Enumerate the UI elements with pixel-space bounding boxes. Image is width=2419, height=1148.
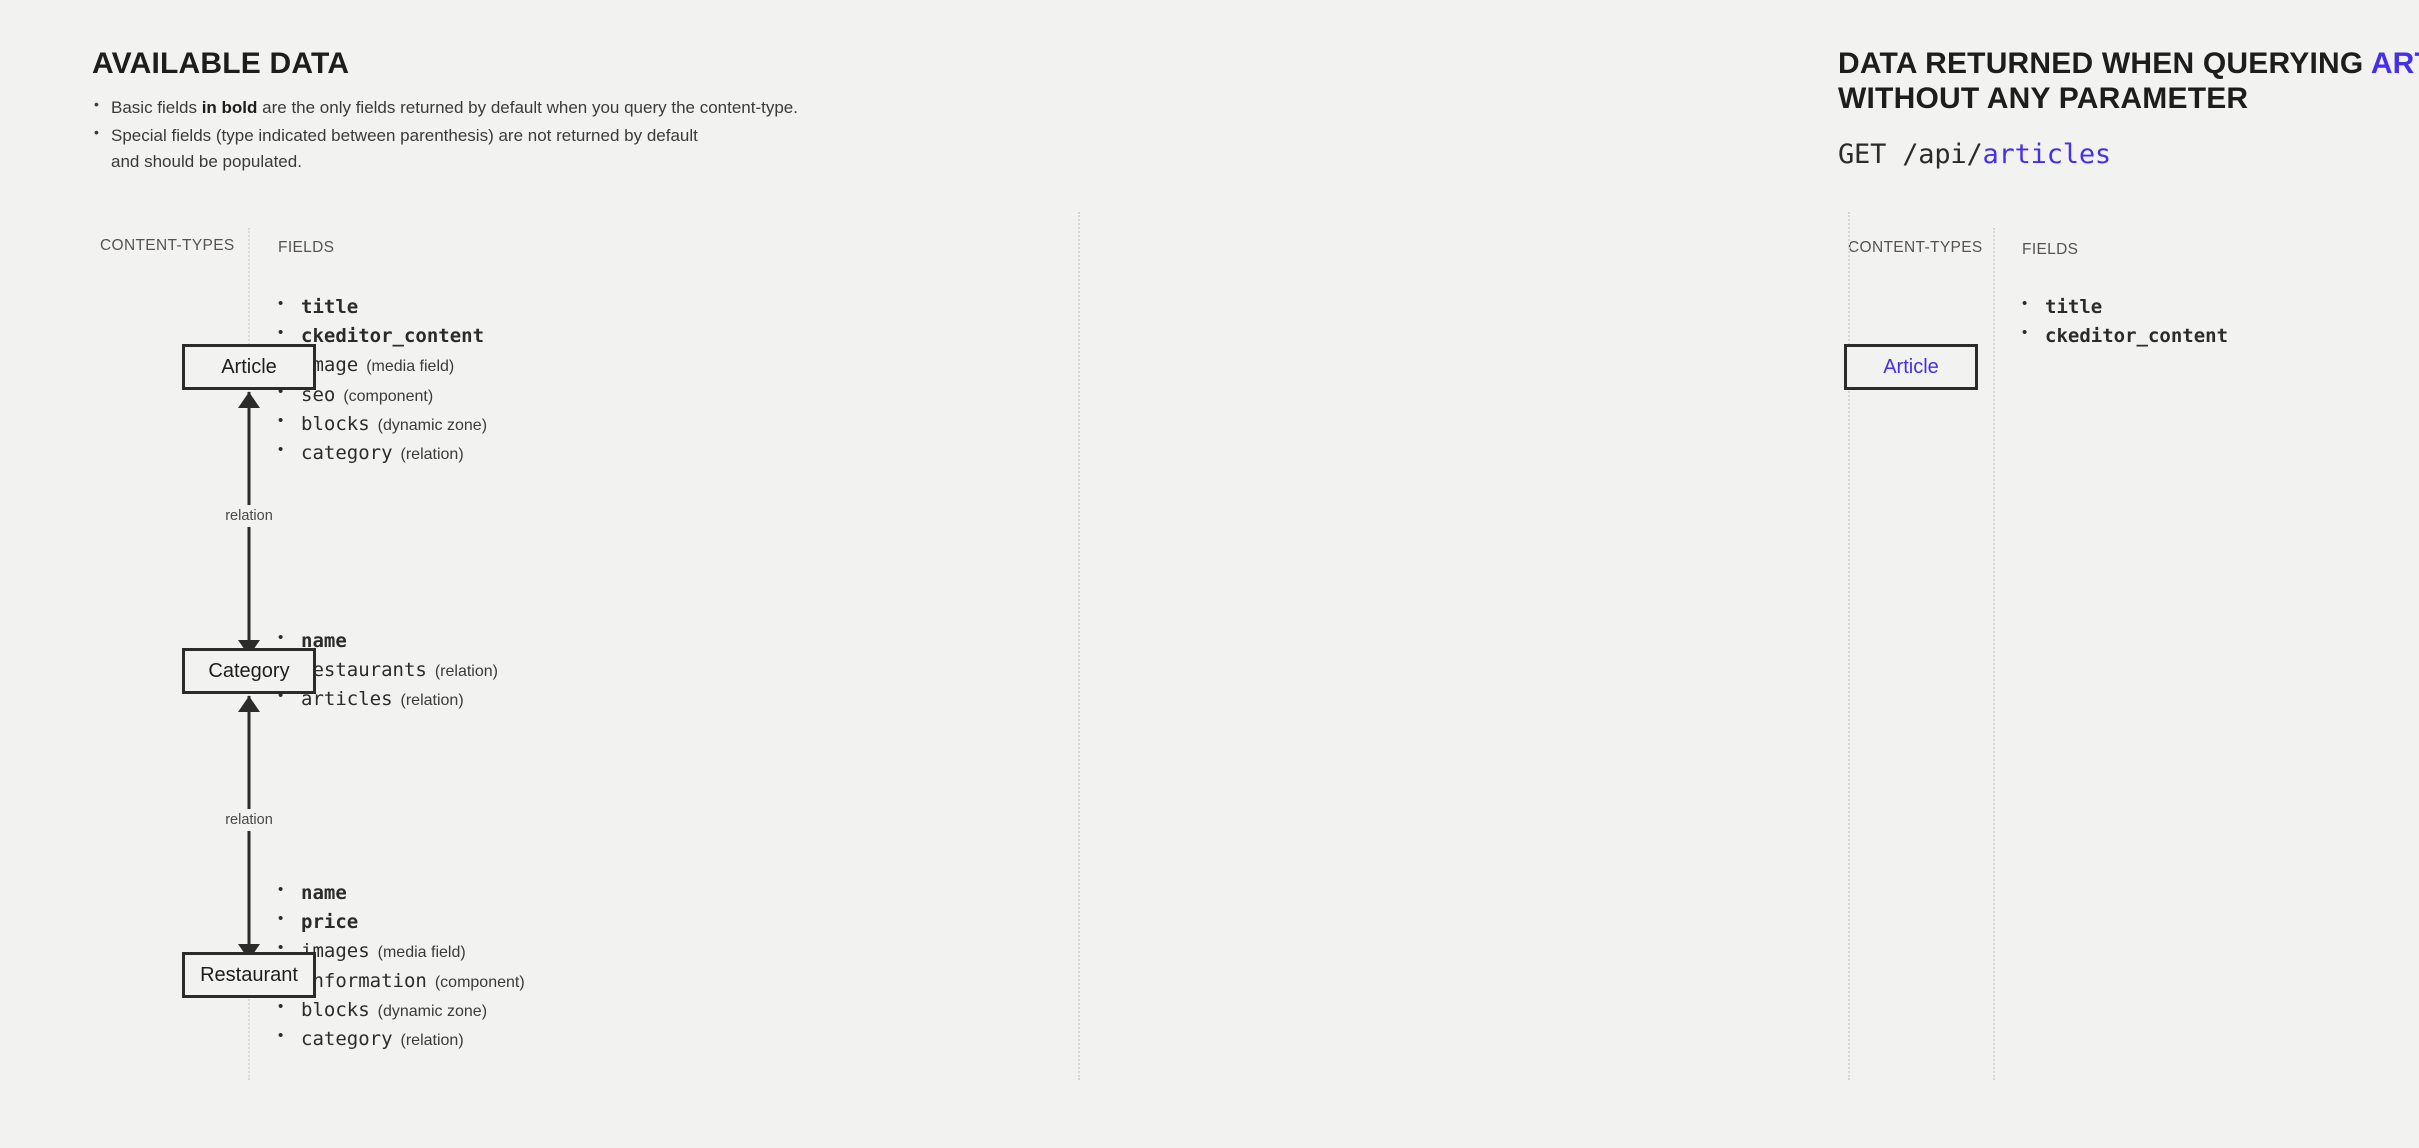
node-article[interactable]: Article: [182, 344, 316, 390]
field-item: blocks(dynamic zone): [278, 997, 525, 1023]
node-article[interactable]: Article: [1844, 344, 1978, 390]
panel-populate-all: DATA RETURNED WHEN QUERYING ARTICLES AND…: [1690, 0, 2419, 1148]
page-title: AVAILABLE DATA: [92, 46, 852, 81]
field-item: category(relation): [278, 1026, 525, 1052]
node-label: Restaurant: [200, 964, 298, 987]
diagram-board: AVAILABLE DATA Basic fields in bold are …: [0, 0, 2419, 1148]
node-restaurant[interactable]: Restaurant: [182, 952, 316, 998]
connector-label: relation: [219, 505, 279, 527]
column-header-content-types: CONTENT-TYPES: [100, 237, 235, 255]
panel-separator: [1078, 212, 1080, 1080]
arrow-up-icon: [238, 696, 260, 712]
arrow-up-icon: [238, 392, 260, 408]
legend-note: Basic fields in bold are the only fields…: [92, 95, 852, 121]
connector-label: relation: [219, 809, 279, 831]
panel-no-parameter: DATA RETURNED WHEN QUERYING ARTICLES WIT…: [920, 0, 1690, 1148]
panel-separator: [1848, 212, 1850, 1080]
node-label: Article: [1883, 356, 1939, 379]
connector-category-restaurant: relation: [182, 696, 316, 960]
node-label: Article: [221, 356, 277, 379]
node-category[interactable]: Category: [182, 648, 316, 694]
legend-note: Special fields (type indicated between p…: [92, 123, 852, 176]
panel-1-header: AVAILABLE DATA Basic fields in bold are …: [92, 46, 852, 176]
column-header-fields: FIELDS: [278, 239, 334, 257]
legend-notes: Basic fields in bold are the only fields…: [92, 95, 852, 175]
node-label: Category: [208, 660, 289, 683]
connector-article-category: relation: [182, 392, 316, 656]
panel-available-data: AVAILABLE DATA Basic fields in bold are …: [0, 0, 920, 1148]
field-item: title: [278, 294, 487, 320]
